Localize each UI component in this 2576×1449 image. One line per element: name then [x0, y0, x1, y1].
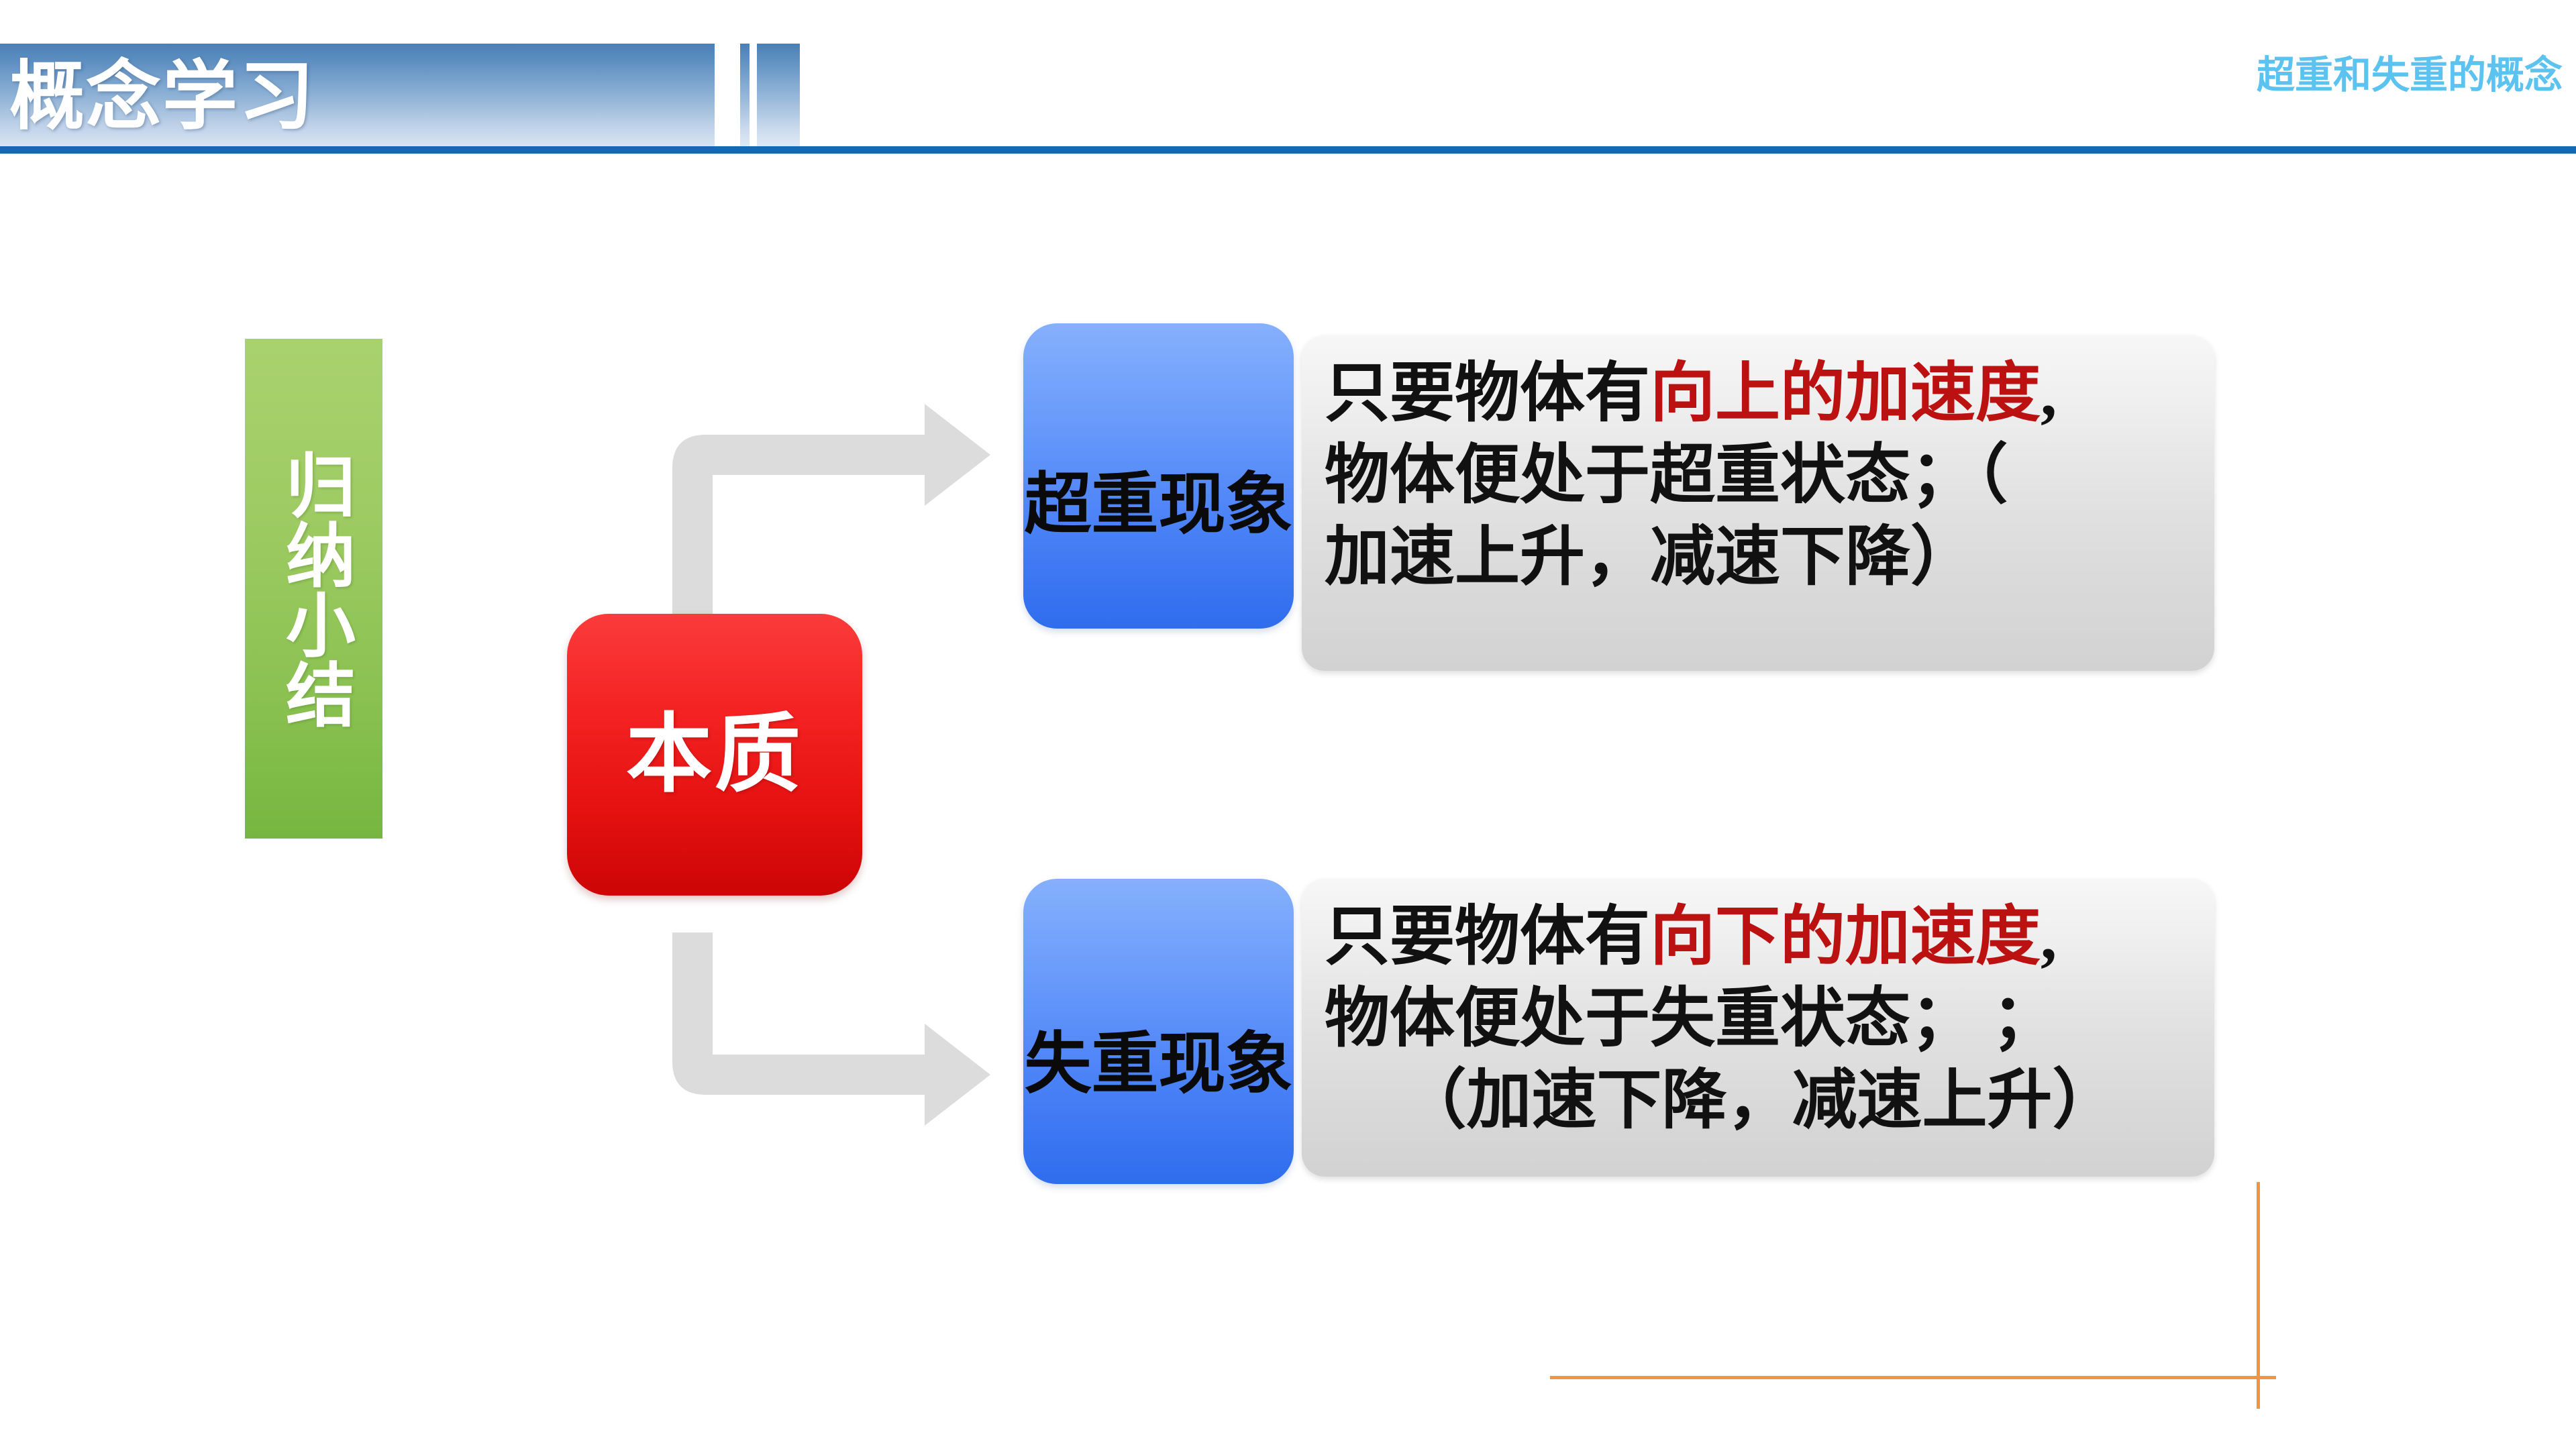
description-run: 只要物体有 — [1325, 901, 1650, 973]
orange-vertical-rule — [2257, 1182, 2260, 1409]
header-divider-rule — [0, 146, 2576, 154]
description-line: （加速下降，减速上升） — [1325, 1060, 2194, 1142]
essence-node-label: 本质 — [626, 708, 803, 802]
arrow-to-overweight-icon — [644, 396, 1074, 637]
orange-horizontal-rule — [1550, 1376, 2276, 1379]
description-line: 加速上升，减速下降） — [1325, 517, 2194, 598]
description-panel-overweight: 只要物体有向上的加速度, 物体便处于超重状态；（ 加速上升，减速下降） — [1302, 335, 2214, 671]
essence-node: 本质 — [567, 614, 862, 896]
phenomenon-box-overweight: 超重现象 — [1023, 323, 1294, 629]
phenomenon-label-overweight: 超重现象 — [1025, 468, 1293, 629]
description-run: , — [2041, 901, 2057, 973]
phenomenon-label-weightless: 失重现象 — [1025, 1027, 1293, 1184]
summary-banner-label: 归纳小结 — [271, 449, 357, 729]
description-line: 只要物体有向下的加速度, — [1325, 896, 2194, 978]
description-run: 物体便处于失重状态； ； — [1325, 983, 2057, 1055]
description-run: （加速下降，减速上升） — [1402, 1065, 2118, 1136]
description-run: 加速上升，减速下降） — [1325, 521, 1975, 593]
arrow-to-weightless-icon — [644, 932, 1074, 1134]
summary-banner: 归纳小结 — [245, 339, 382, 839]
description-panel-weightless: 只要物体有向下的加速度, 物体便处于失重状态； ； （加速下降，减速上升） — [1302, 879, 2214, 1177]
description-run: 向下的加速度 — [1650, 901, 2041, 973]
description-line: 物体便处于失重状态； ； — [1325, 978, 2194, 1060]
description-run: , — [2041, 358, 2057, 429]
description-run: 向上的加速度 — [1650, 358, 2041, 429]
description-line: 只要物体有向上的加速度, — [1325, 353, 2194, 435]
header-accent-tick-1 — [740, 44, 750, 149]
lesson-subject-label: 超重和失重的概念 — [2257, 52, 2563, 99]
description-line: 物体便处于超重状态；（ — [1325, 435, 2194, 517]
page-title: 概念学习 — [9, 46, 315, 147]
header-accent-tick-2 — [757, 44, 800, 149]
phenomenon-box-weightless: 失重现象 — [1023, 879, 1294, 1184]
description-run: 物体便处于超重状态；（ — [1325, 439, 2008, 511]
description-run: 只要物体有 — [1325, 358, 1650, 429]
